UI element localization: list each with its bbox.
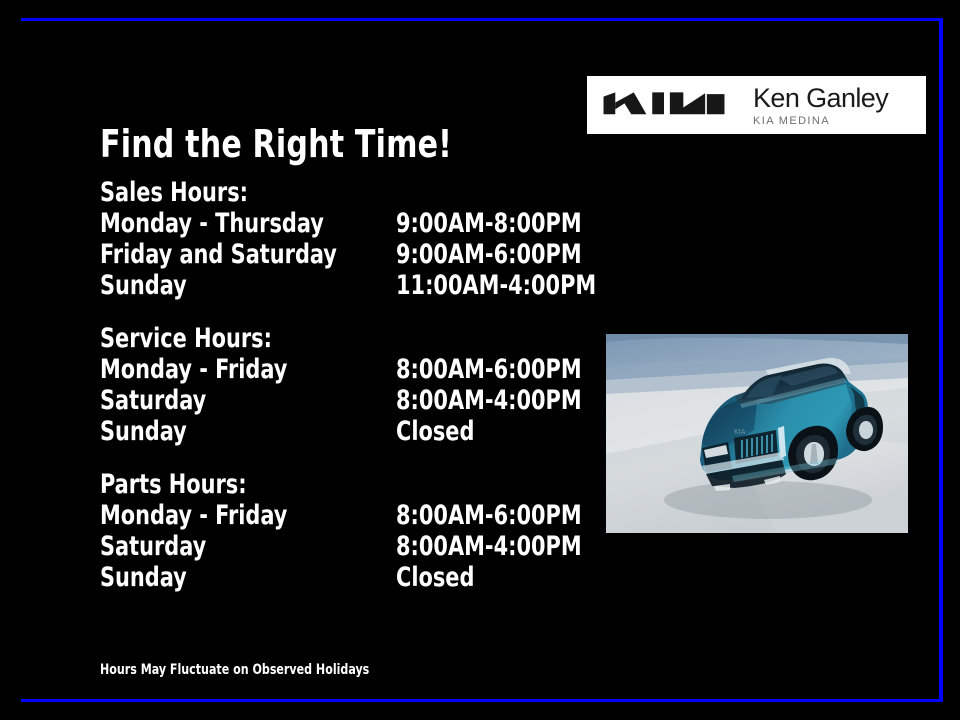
hours-time-value: 8:00AM-4:00PM xyxy=(396,385,582,416)
hours-time-value: 11:00AM-4:00PM xyxy=(396,270,596,301)
dealer-name: Ken Ganley xyxy=(753,84,888,112)
hours-time-value: 8:00AM-4:00PM xyxy=(396,531,582,562)
hours-time-value: 8:00AM-6:00PM xyxy=(396,500,582,531)
slide-inner-stage: Find the Right Time! Sales Hours: Monday… xyxy=(21,21,939,699)
hours-time-value: Closed xyxy=(396,416,474,447)
section-heading-parts: Parts Hours: xyxy=(100,469,504,500)
kia-logo-icon xyxy=(601,88,727,122)
kia-ev9-illustration: KIA xyxy=(606,334,908,533)
hours-day-label: Sunday xyxy=(100,416,187,447)
hours-block-parts: Parts Hours: Monday - Friday 8:00AM-6:00… xyxy=(100,469,570,593)
dealer-logo-plate: Ken Ganley KIA MEDINA xyxy=(587,76,926,134)
hours-sections: Sales Hours: Monday - Thursday 9:00AM-8:… xyxy=(100,177,570,593)
dealer-sublabel: KIA MEDINA xyxy=(753,115,888,127)
hours-time-value: Closed xyxy=(396,562,474,593)
hours-block-sales: Sales Hours: Monday - Thursday 9:00AM-8:… xyxy=(100,177,570,301)
hours-time-value: 8:00AM-6:00PM xyxy=(396,354,582,385)
hours-row: Monday - Friday 8:00AM-6:00PM xyxy=(100,500,570,531)
hours-day-label: Sunday xyxy=(100,562,187,593)
holiday-disclaimer: Hours May Fluctuate on Observed Holidays xyxy=(100,662,369,679)
section-heading-service: Service Hours: xyxy=(100,323,504,354)
hours-time-value: 9:00AM-8:00PM xyxy=(396,208,582,239)
hours-block-service: Service Hours: Monday - Friday 8:00AM-6:… xyxy=(100,323,570,447)
svg-text:KIA: KIA xyxy=(734,428,746,436)
hours-row: Monday - Thursday 9:00AM-8:00PM xyxy=(100,208,570,239)
hours-row: Sunday Closed xyxy=(100,562,570,593)
section-heading-sales: Sales Hours: xyxy=(100,177,504,208)
dealer-name-group: Ken Ganley KIA MEDINA xyxy=(753,84,888,127)
hours-day-label: Saturday xyxy=(100,385,206,416)
hours-day-label: Saturday xyxy=(100,531,206,562)
hours-row: Friday and Saturday 9:00AM-6:00PM xyxy=(100,239,570,270)
hours-row: Monday - Friday 8:00AM-6:00PM xyxy=(100,354,570,385)
hours-row: Sunday 11:00AM-4:00PM xyxy=(100,270,570,301)
hours-row: Saturday 8:00AM-4:00PM xyxy=(100,531,570,562)
page-title: Find the Right Time! xyxy=(100,122,452,166)
hours-time-value: 9:00AM-6:00PM xyxy=(396,239,582,270)
hours-day-label: Monday - Friday xyxy=(100,354,287,385)
hours-row: Saturday 8:00AM-4:00PM xyxy=(100,385,570,416)
hours-day-label: Monday - Thursday xyxy=(100,208,324,239)
slide-canvas: Find the Right Time! Sales Hours: Monday… xyxy=(0,0,960,720)
vehicle-photo: KIA xyxy=(606,334,908,533)
hours-day-label: Sunday xyxy=(100,270,187,301)
hours-row: Sunday Closed xyxy=(100,416,570,447)
hours-day-label: Friday and Saturday xyxy=(100,239,337,270)
hours-day-label: Monday - Friday xyxy=(100,500,287,531)
